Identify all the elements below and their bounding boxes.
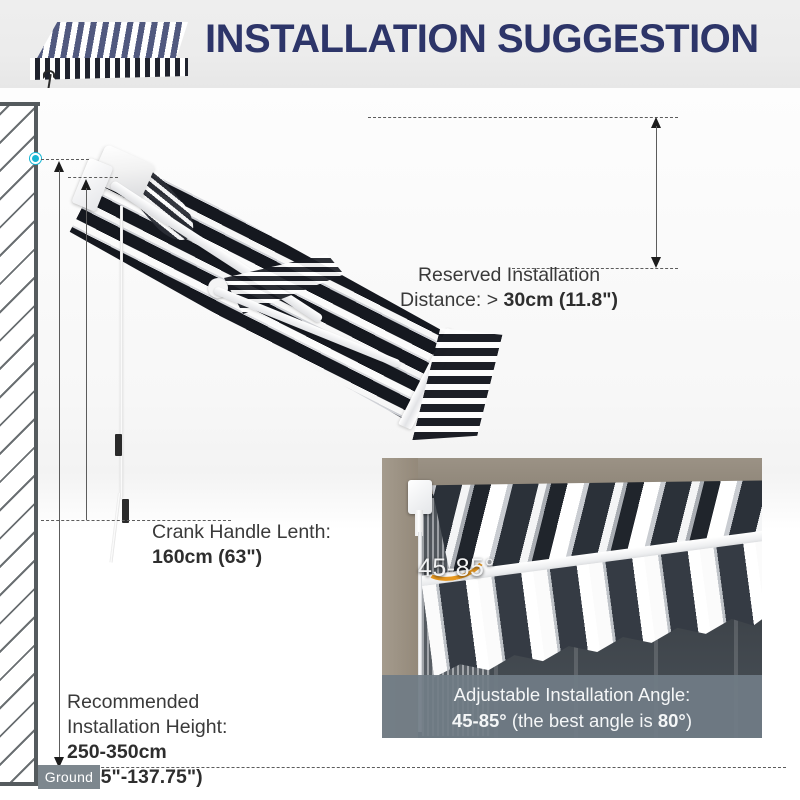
- crank-dim-line: [86, 188, 87, 520]
- reserved-dim-line: [656, 126, 657, 260]
- header-banner: INSTALLATION SUGGESTION: [0, 0, 800, 88]
- wall-hatch-pattern: [0, 106, 34, 786]
- reserved-distance-label: Reserved Installation Distance: > 30cm (…: [378, 263, 640, 313]
- guide-dash-mount-top: [41, 159, 89, 160]
- guide-dash-reserved-top: [368, 117, 678, 118]
- awning-icon: [30, 22, 195, 80]
- wall-section: [0, 106, 38, 786]
- page-title: INSTALLATION SUGGESTION: [205, 17, 759, 62]
- photo-wall-mount: [408, 480, 432, 514]
- height-dim-line: [59, 170, 60, 770]
- crank-marker-top: [115, 434, 122, 456]
- photo-caption-mid: (the best angle is: [507, 710, 658, 731]
- wall-top-edge: [0, 102, 40, 106]
- crank-rod-lower: [109, 493, 121, 563]
- installation-height-value-cm: 250-350cm: [67, 741, 167, 763]
- ground-label: Ground: [38, 765, 100, 789]
- mount-point-dot: [30, 153, 41, 164]
- crank-handle-label: Crank Handle Lenth: 160cm (63"): [152, 520, 382, 570]
- reserved-distance-line2-prefix: Distance: >: [400, 289, 504, 311]
- photo-caption-line1: Adjustable Installation Angle:: [454, 684, 691, 705]
- installation-height-label: Recommended Installation Height: 250-350…: [67, 690, 317, 790]
- photo-caption-end: ): [686, 710, 692, 731]
- photo-caption-best-angle: 80°: [658, 710, 686, 731]
- reserved-distance-line1: Reserved Installation: [418, 264, 600, 286]
- photo-caption-angle-range: 45-85°: [452, 710, 507, 731]
- photo-angle-label: 45-85°: [418, 554, 495, 583]
- reserved-dim-arrow-bottom: [651, 257, 661, 268]
- installation-height-line2: Installation Height:: [67, 716, 227, 738]
- crank-handle-value: 160cm (63"): [152, 546, 262, 568]
- installation-height-line1: Recommended: [67, 691, 199, 713]
- awning-icon-canopy: [36, 22, 188, 60]
- installation-suggestion-infographic: INSTALLATION SUGGESTION: [0, 0, 800, 800]
- reserved-distance-value: 30cm (11.8"): [504, 289, 618, 311]
- guide-dash-mount-second: [68, 177, 118, 178]
- wall-bottom-edge: [0, 782, 40, 786]
- photo-caption-bar: Adjustable Installation Angle: 45-85° (t…: [382, 675, 762, 738]
- crank-handle-line1: Crank Handle Lenth:: [152, 521, 331, 543]
